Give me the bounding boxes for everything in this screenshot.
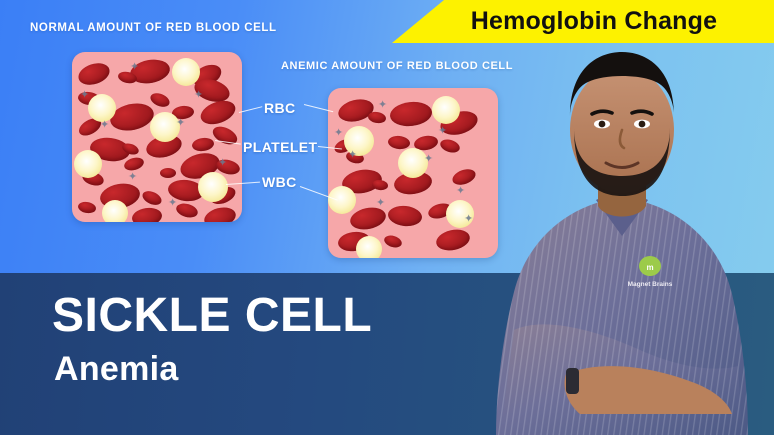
slide-canvas: Hemoglobin Change NORMAL AMOUNT OF RED B… [0, 0, 774, 435]
callout-label-platelet: PLATELET [243, 139, 318, 155]
normal-blood-panel: ✦ ✦ ✦ ✦ ✦ ✦ ✦ ✦ [72, 52, 242, 222]
svg-text:m: m [646, 263, 653, 272]
hemoglobin-change-banner: Hemoglobin Change [392, 0, 774, 43]
normal-panel-heading: NORMAL AMOUNT OF RED BLOOD CELL [30, 22, 277, 34]
page-subtitle: Anemia [54, 352, 179, 386]
presenter-badge-text: Magnet Brains [628, 281, 673, 288]
presenter-photo: m Magnet Brains [470, 30, 774, 435]
callout-label-rbc: RBC [264, 100, 296, 116]
banner-title: Hemoglobin Change [449, 7, 717, 36]
presenter-watch [566, 368, 579, 394]
page-title: SICKLE CELL [52, 292, 372, 340]
callout-line-rbc-left [239, 106, 263, 113]
callout-label-wbc: WBC [262, 174, 297, 190]
